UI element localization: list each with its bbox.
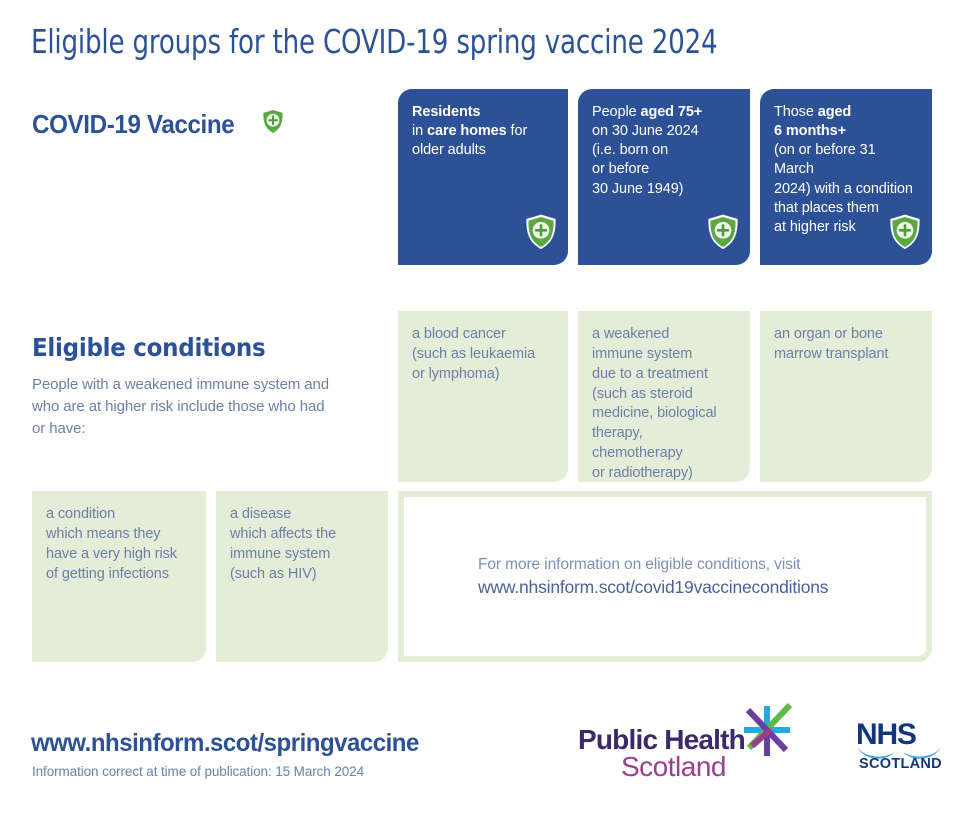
condition-line: which means they <box>46 525 192 545</box>
nhs-scotland-logo: NHS SCOTLAND <box>854 718 948 774</box>
group-line: 2024) with a condition <box>774 180 918 199</box>
phs-logo-line-2: Scotland <box>621 751 726 783</box>
condition-line: a blood cancer <box>412 325 554 345</box>
eligible-conditions-intro: People with a weakened immune system and… <box>32 374 332 439</box>
condition-line: a weakened <box>592 325 736 345</box>
group-line: on 30 June 2024 <box>592 122 736 141</box>
condition-box-high-infection-risk: a condition which means they have a very… <box>32 491 206 662</box>
condition-line: an organ or bone <box>774 325 918 345</box>
eligible-group-box-care-home-residents: Residents in care homes for older adults <box>398 89 568 265</box>
condition-line: (such as steroid <box>592 385 736 405</box>
group-line-bold: care homes <box>427 123 507 139</box>
condition-line: marrow transplant <box>774 345 918 365</box>
shield-plus-icon <box>524 213 558 257</box>
condition-line: a disease <box>230 505 374 525</box>
footer-url[interactable]: www.nhsinform.scot/springvaccine <box>31 729 419 758</box>
condition-line: or radiotherapy) <box>592 464 736 482</box>
group-line: (i.e. born on <box>592 141 736 160</box>
covid-vaccine-heading: COVID-19 Vaccine <box>32 107 286 141</box>
group-line-bold: 6 months+ <box>774 123 846 139</box>
group-line: (on or before 31 March <box>774 141 918 179</box>
more-information-url[interactable]: www.nhsinform.scot/covid19vaccineconditi… <box>478 577 926 598</box>
group-line-bold: Residents <box>412 104 480 120</box>
nhs-logo-nation: SCOTLAND <box>859 756 942 772</box>
condition-box-weakened-immune-system: a weakened immune system due to a treatm… <box>578 311 750 482</box>
covid-vaccine-heading-label: COVID-19 Vaccine <box>32 109 234 140</box>
condition-line: due to a treatment <box>592 365 736 385</box>
condition-line: or lymphoma) <box>412 365 554 385</box>
shield-plus-icon <box>706 213 740 257</box>
group-line: 30 June 1949) <box>592 180 736 199</box>
more-information-box: For more information on eligible conditi… <box>398 491 932 662</box>
condition-line: medicine, biological <box>592 404 736 424</box>
shield-plus-icon <box>260 107 286 141</box>
condition-line: therapy, chemotherapy <box>592 424 736 464</box>
condition-line: (such as leukaemia <box>412 345 554 365</box>
public-health-scotland-logo: Public Health Scotland <box>578 700 808 780</box>
more-information-text: For more information on eligible conditi… <box>478 556 926 574</box>
shield-plus-icon <box>888 213 922 257</box>
group-line: older adults <box>412 141 554 160</box>
condition-line: which affects the <box>230 525 374 545</box>
condition-line: have a very high risk <box>46 545 192 565</box>
footer-publication-note: Information correct at time of publicati… <box>32 764 364 779</box>
eligible-group-box-aged-6-months-plus: Those aged 6 months+ (on or before 31 Ma… <box>760 89 932 265</box>
condition-line: (such as HIV) <box>230 565 374 585</box>
group-line: or before <box>592 160 736 179</box>
page-title: Eligible groups for the COVID-19 spring … <box>31 22 836 61</box>
group-line-bold: aged 75+ <box>640 104 702 120</box>
condition-line: immune system <box>230 545 374 565</box>
eligible-conditions-heading: Eligible conditions <box>32 333 265 362</box>
condition-box-transplant: an organ or bone marrow transplant <box>760 311 932 482</box>
condition-box-blood-cancer: a blood cancer (such as leukaemia or lym… <box>398 311 568 482</box>
condition-line: of getting infections <box>46 565 192 585</box>
condition-box-immune-system-disease: a disease which affects the immune syste… <box>216 491 388 662</box>
phs-starburst-icon <box>736 700 798 760</box>
condition-line: immune system <box>592 345 736 365</box>
condition-line: a condition <box>46 505 192 525</box>
group-line-bold: aged <box>818 104 851 120</box>
eligible-group-box-aged-75-plus: People aged 75+ on 30 June 2024 (i.e. bo… <box>578 89 750 265</box>
